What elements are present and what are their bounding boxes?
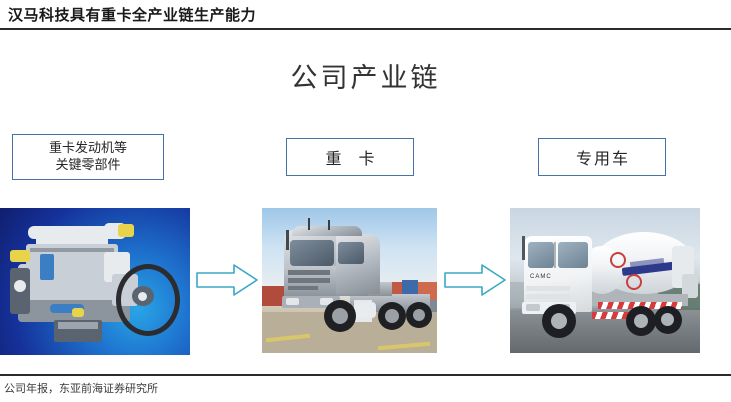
flow-arrow-right-1 (196, 263, 258, 297)
stage-label-special-vehicle: 专用车 (574, 145, 630, 169)
page-title: 汉马科技具有重卡全产业链生产能力 (8, 4, 256, 25)
stage-label-components: 重卡发动机等 关键零部件 (49, 140, 127, 174)
heavy-truck-engine-photo (0, 208, 190, 355)
stage-label-heavy-truck: 重 卡 (319, 145, 380, 169)
footer-divider (0, 374, 731, 376)
concrete-mixer-truck-photo: CAMC (510, 208, 700, 353)
source-note: 公司年报，东亚前海证券研究所 (4, 380, 158, 396)
stage-box-heavy-truck: 重 卡 (286, 138, 414, 176)
flow-arrow-right-2 (444, 263, 506, 297)
stage-label-components-line2: 关键零部件 (55, 158, 120, 173)
heavy-truck-tractor-photo (262, 208, 437, 353)
chain-heading: 公司产业链 (0, 56, 731, 95)
mixer-brand-label: CAMC (530, 274, 552, 280)
slide-header: 汉马科技具有重卡全产业链生产能力 (0, 0, 731, 30)
stage-box-components: 重卡发动机等 关键零部件 (12, 134, 164, 180)
stage-box-special-vehicle: 专用车 (538, 138, 666, 176)
header-divider (0, 28, 731, 30)
stage-label-components-line1: 重卡发动机等 (49, 141, 127, 156)
